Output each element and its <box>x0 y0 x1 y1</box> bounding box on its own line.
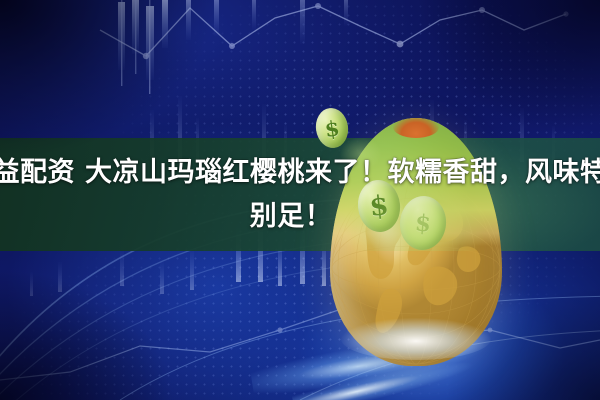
headline-text-block: 益配资 大凉山玛瑙红樱桃来了！软糯香甜，风味特 别足！ <box>0 138 600 251</box>
egg-base-glow <box>341 318 491 360</box>
promo-banner-image: $ $ $ 益配资 大凉山玛瑙红樱桃来了！软糯香甜，风味特 别足！ <box>0 0 600 400</box>
headline-line-2: 别足！ <box>250 195 333 239</box>
headline-line-1: 益配资 大凉山玛瑙红樱桃来了！软糯香甜，风味特 <box>0 151 600 195</box>
